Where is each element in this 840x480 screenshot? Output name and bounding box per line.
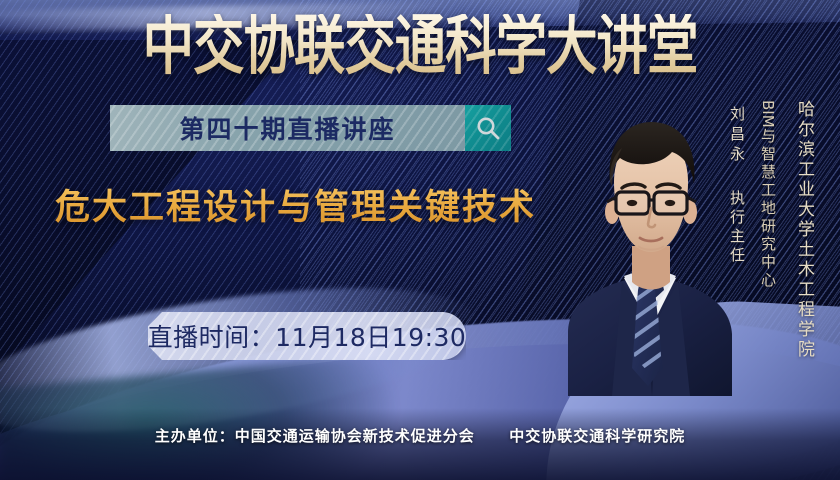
speaker-center-rest: 与智慧工地研究中心 xyxy=(759,128,777,290)
page-title: 中交协联交通科学大讲堂 xyxy=(13,14,828,79)
speaker-affiliation: 哈尔滨工业大学土木工程学院 xyxy=(792,100,817,360)
speaker-center-latin: BIM xyxy=(759,100,777,128)
footer-host-label: 主办单位：中国交通运输协会新技术促进分会 xyxy=(155,427,475,445)
episode-badge-label: 第四十期直播讲座 xyxy=(179,110,395,146)
speaker-portrait-photo xyxy=(556,96,746,396)
search-button[interactable] xyxy=(465,105,511,151)
live-lecture-poster: 中交协联交通科学大讲堂 第四十期直播讲座 危大工程设计与管理关键技术 直播时间：… xyxy=(0,0,840,480)
episode-badge: 第四十期直播讲座 xyxy=(110,105,465,151)
live-time-badge: 直播时间：11月18日19:30 xyxy=(148,312,466,360)
search-icon xyxy=(475,115,501,141)
footer: 主办单位：中国交通运输协会新技术促进分会 中交协联交通科学研究院 xyxy=(0,425,840,446)
speaker-role: 执行主任 xyxy=(727,190,748,266)
footer-institute-label: 中交协联交通科学研究院 xyxy=(509,427,685,445)
lecture-title: 危大工程设计与管理关键技术 xyxy=(55,188,536,228)
live-time-label: 直播时间：11月18日19:30 xyxy=(148,318,467,354)
speaker-research-center: BIM与智慧工地研究中心 xyxy=(758,100,782,290)
speaker-name: 刘昌永 xyxy=(727,106,748,166)
